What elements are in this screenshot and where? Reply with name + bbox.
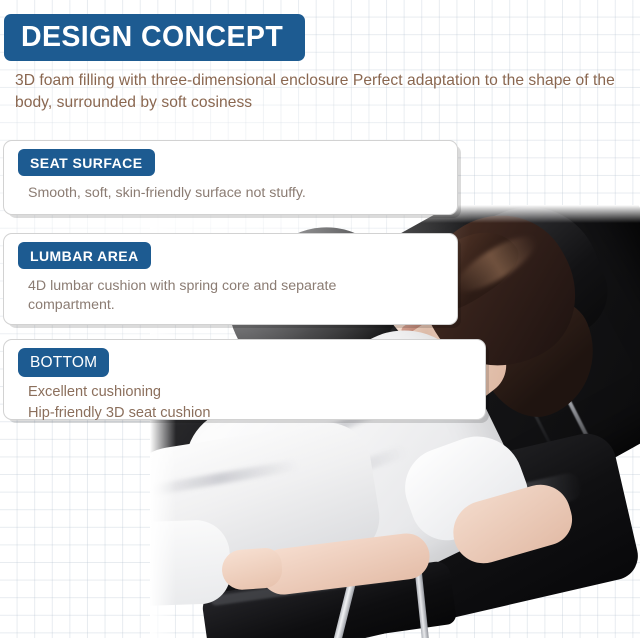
- page-title: DESIGN CONCEPT: [21, 23, 283, 52]
- card-body-seat-surface: Smooth, soft, skin-friendly surface not …: [28, 184, 445, 203]
- feature-card-bottom: BOTTOM Excellent cushioning Hip-friendly…: [3, 339, 486, 420]
- feature-card-lumbar-area: LUMBAR AREA 4D lumbar cushion with sprin…: [3, 233, 458, 325]
- card-badge-label: SEAT SURFACE: [30, 156, 143, 170]
- card-line: Excellent cushioning: [28, 382, 473, 403]
- infographic-page: DESIGN CONCEPT 3D foam filling with thre…: [0, 0, 640, 638]
- card-badge-label: BOTTOM: [30, 355, 97, 371]
- card-line: Hip-friendly 3D seat cushion: [28, 403, 473, 424]
- intro-paragraph: 3D foam filling with three-dimensional e…: [15, 70, 623, 115]
- card-badge-seat-surface: SEAT SURFACE: [18, 149, 155, 176]
- page-title-badge: DESIGN CONCEPT: [4, 14, 305, 61]
- feature-card-seat-surface: SEAT SURFACE Smooth, soft, skin-friendly…: [3, 140, 458, 215]
- card-body-lumbar-area: 4D lumbar cushion with spring core and s…: [28, 277, 445, 314]
- card-badge-bottom: BOTTOM: [18, 348, 109, 377]
- card-body-bottom: Excellent cushioning Hip-friendly 3D sea…: [28, 382, 473, 424]
- card-line: compartment.: [28, 296, 445, 315]
- card-line: Smooth, soft, skin-friendly surface not …: [28, 184, 445, 203]
- card-badge-label: LUMBAR AREA: [30, 249, 139, 263]
- card-line: 4D lumbar cushion with spring core and s…: [28, 277, 445, 296]
- content-layer: DESIGN CONCEPT 3D foam filling with thre…: [0, 0, 640, 638]
- card-badge-lumbar-area: LUMBAR AREA: [18, 242, 151, 269]
